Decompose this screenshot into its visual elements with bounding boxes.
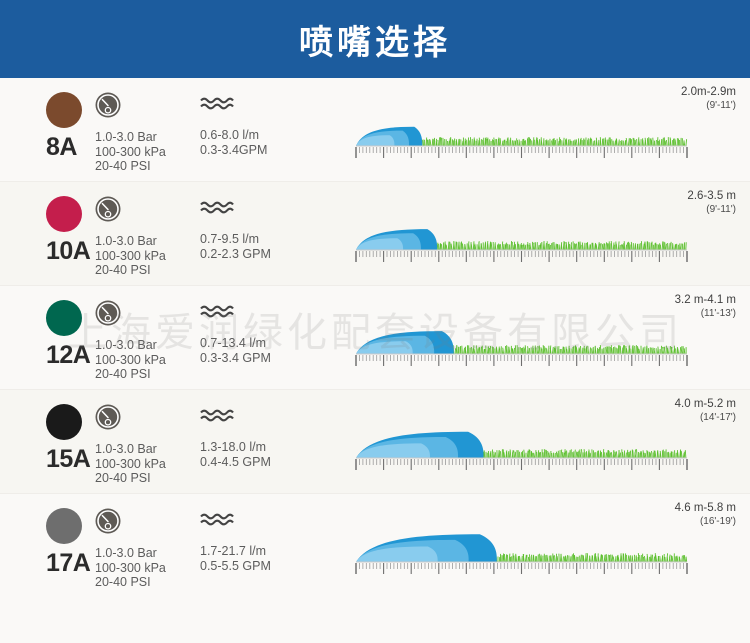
nozzle-color-swatch [46,92,82,128]
pressure-bar: 1.0-3.0 Bar [95,546,200,561]
spray-range-meters: 4.6 m-5.8 m [675,502,736,515]
nozzle-code-cell: 8A [0,78,95,162]
pressure-psi: 20-40 PSI [95,159,200,174]
spray-range-meters: 4.0 m-5.2 m [675,398,736,411]
spray-profile-diagram [350,522,695,574]
flow-gpm: 0.5-5.5 GPM [200,559,350,574]
ruler-ticks [356,563,687,574]
spray-range-text: 2.0m-2.9m(9'-11') [681,86,736,112]
spray-range-text: 2.6-3.5 m(9'-11') [687,190,736,216]
diagram-cell: 4.6 m-5.8 m(16'-19') [350,494,750,574]
pressure-bar: 1.0-3.0 Bar [95,442,200,457]
spray-arc-outer [356,341,413,354]
flow-cell: 0.6-8.0 l/m0.3-3.4GPM [200,78,350,157]
grass-strip [453,345,686,354]
flow-gpm: 0.3-3.4GPM [200,143,350,158]
nozzle-code-label: 12A [46,341,95,370]
nozzle-row: 8A1.0-3.0 Bar100-300 kPa20-40 PSI0.6-8.0… [0,78,750,182]
spray-range-feet: (9'-11') [681,99,736,112]
flow-gpm: 0.3-3.4 GPM [200,351,350,366]
spray-profile-diagram [350,210,695,262]
pressure-gauge-icon [95,300,200,331]
nozzle-color-swatch [46,300,82,336]
flow-cell: 1.7-21.7 l/m0.5-5.5 GPM [200,494,350,573]
nozzle-row: 12A1.0-3.0 Bar100-300 kPa20-40 PSI0.7-13… [0,286,750,390]
pressure-gauge-icon [95,196,200,227]
nozzle-code-label: 15A [46,445,95,474]
page-header: 喷嘴选择 [0,0,750,78]
pressure-cell: 1.0-3.0 Bar100-300 kPa20-40 PSI [95,390,200,486]
nozzle-code-cell: 12A [0,286,95,370]
grass-strip [496,553,687,562]
grass-strip [437,241,686,250]
spray-arc-outer [356,546,438,562]
flow-lpm: 0.6-8.0 l/m [200,128,350,143]
spray-range-text: 4.6 m-5.8 m(16'-19') [675,502,736,528]
diagram-cell: 4.0 m-5.2 m(14'-17') [350,390,750,470]
spray-range-feet: (9'-11') [687,203,736,216]
diagram-cell: 3.2 m-4.1 m(11'-13') [350,286,750,366]
water-flow-icon [200,200,350,220]
grass-strip [422,137,686,146]
flow-lpm: 1.7-21.7 l/m [200,544,350,559]
water-flow-icon [200,408,350,428]
diagram-cell: 2.6-3.5 m(9'-11') [350,182,750,262]
pressure-cell: 1.0-3.0 Bar100-300 kPa20-40 PSI [95,78,200,174]
pressure-gauge-icon [95,404,200,435]
pressure-kpa: 100-300 kPa [95,561,200,576]
nozzle-color-swatch [46,196,82,232]
pressure-gauge-icon [95,92,200,123]
spray-profile-diagram [350,418,695,470]
pressure-spec-lines: 1.0-3.0 Bar100-300 kPa20-40 PSI [95,546,200,590]
pressure-bar: 1.0-3.0 Bar [95,338,200,353]
nozzle-code-cell: 17A [0,494,95,578]
pressure-spec-lines: 1.0-3.0 Bar100-300 kPa20-40 PSI [95,234,200,278]
nozzle-row: 15A1.0-3.0 Bar100-300 kPa20-40 PSI1.3-18… [0,390,750,494]
spray-range-meters: 2.0m-2.9m [681,86,736,99]
flow-spec-lines: 0.6-8.0 l/m0.3-3.4GPM [200,128,350,157]
spray-range-text: 3.2 m-4.1 m(11'-13') [675,294,736,320]
nozzle-color-swatch [46,508,82,544]
flow-lpm: 0.7-9.5 l/m [200,232,350,247]
pressure-kpa: 100-300 kPa [95,145,200,160]
spray-range-feet: (14'-17') [675,411,736,424]
nozzle-row: 10A1.0-3.0 Bar100-300 kPa20-40 PSI0.7-9.… [0,182,750,286]
pressure-kpa: 100-300 kPa [95,353,200,368]
flow-gpm: 0.2-2.3 GPM [200,247,350,262]
flow-lpm: 0.7-13.4 l/m [200,336,350,351]
pressure-bar: 1.0-3.0 Bar [95,234,200,249]
pressure-bar: 1.0-3.0 Bar [95,130,200,145]
nozzle-color-swatch [46,404,82,440]
ruler-ticks [356,251,687,262]
spray-arc-outer [356,238,403,250]
nozzle-code-cell: 15A [0,390,95,474]
nozzle-code-cell: 10A [0,182,95,266]
pressure-cell: 1.0-3.0 Bar100-300 kPa20-40 PSI [95,494,200,590]
flow-spec-lines: 0.7-9.5 l/m0.2-2.3 GPM [200,232,350,261]
nozzle-code-label: 8A [46,133,95,162]
spray-arc-outer [356,443,430,458]
flow-spec-lines: 0.7-13.4 l/m0.3-3.4 GPM [200,336,350,365]
spray-profile-diagram [350,314,695,366]
flow-cell: 1.3-18.0 l/m0.4-4.5 GPM [200,390,350,469]
water-flow-icon [200,512,350,532]
spray-arc-outer [356,135,394,146]
ruler-ticks [356,459,687,470]
nozzle-table: 8A1.0-3.0 Bar100-300 kPa20-40 PSI0.6-8.0… [0,78,750,598]
pressure-psi: 20-40 PSI [95,263,200,278]
flow-spec-lines: 1.7-21.7 l/m0.5-5.5 GPM [200,544,350,573]
pressure-psi: 20-40 PSI [95,471,200,486]
spray-range-text: 4.0 m-5.2 m(14'-17') [675,398,736,424]
spray-range-meters: 2.6-3.5 m [687,190,736,203]
nozzle-code-label: 17A [46,549,95,578]
water-flow-icon [200,304,350,324]
pressure-kpa: 100-300 kPa [95,457,200,472]
pressure-cell: 1.0-3.0 Bar100-300 kPa20-40 PSI [95,182,200,278]
pressure-psi: 20-40 PSI [95,575,200,590]
ruler-ticks [356,355,687,366]
pressure-gauge-icon [95,508,200,539]
pressure-spec-lines: 1.0-3.0 Bar100-300 kPa20-40 PSI [95,338,200,382]
pressure-psi: 20-40 PSI [95,367,200,382]
pressure-spec-lines: 1.0-3.0 Bar100-300 kPa20-40 PSI [95,442,200,486]
water-flow-icon [200,96,350,116]
spray-range-feet: (11'-13') [675,307,736,320]
pressure-kpa: 100-300 kPa [95,249,200,264]
grass-strip [483,449,686,458]
flow-gpm: 0.4-4.5 GPM [200,455,350,470]
spray-range-feet: (16'-19') [675,515,736,528]
ruler-ticks [356,147,687,158]
nozzle-row: 17A1.0-3.0 Bar100-300 kPa20-40 PSI1.7-21… [0,494,750,598]
flow-cell: 0.7-9.5 l/m0.2-2.3 GPM [200,182,350,261]
flow-lpm: 1.3-18.0 l/m [200,440,350,455]
spray-range-meters: 3.2 m-4.1 m [675,294,736,307]
diagram-cell: 2.0m-2.9m(9'-11') [350,78,750,158]
pressure-spec-lines: 1.0-3.0 Bar100-300 kPa20-40 PSI [95,130,200,174]
flow-spec-lines: 1.3-18.0 l/m0.4-4.5 GPM [200,440,350,469]
nozzle-code-label: 10A [46,237,95,266]
page-title: 喷嘴选择 [299,15,451,64]
spray-profile-diagram [350,106,695,158]
pressure-cell: 1.0-3.0 Bar100-300 kPa20-40 PSI [95,286,200,382]
flow-cell: 0.7-13.4 l/m0.3-3.4 GPM [200,286,350,365]
